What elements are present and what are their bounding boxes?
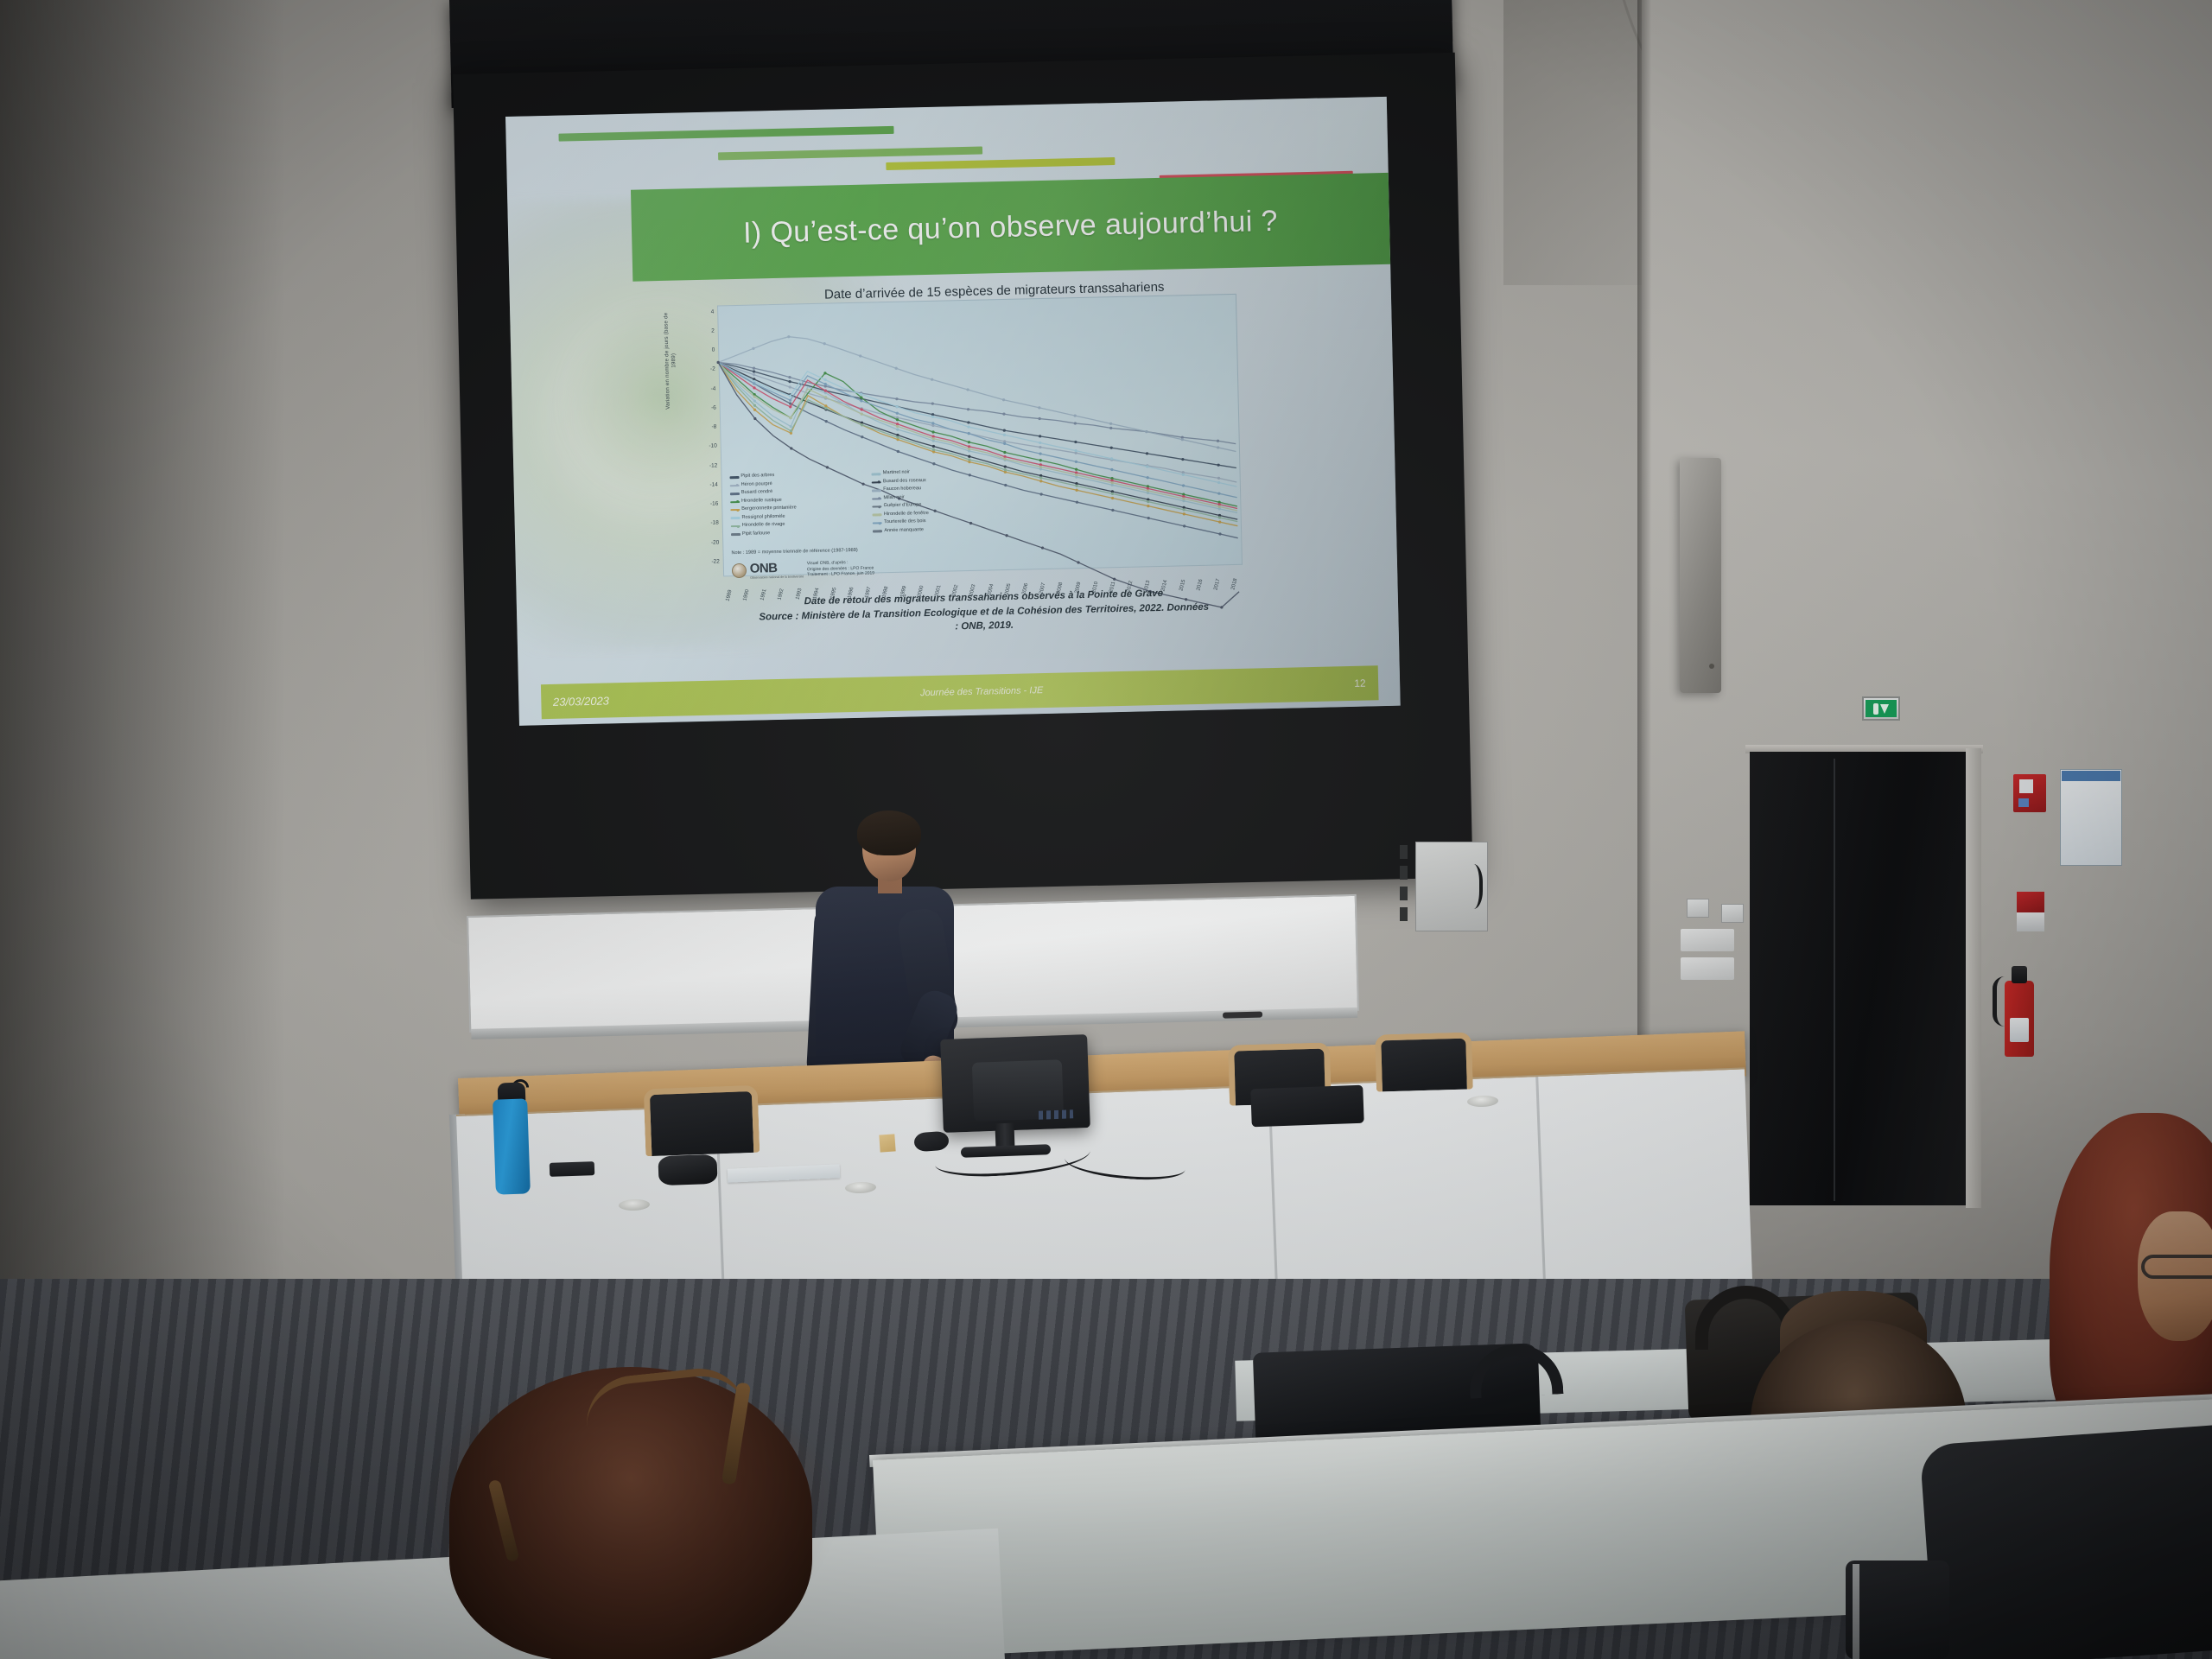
chart-data-point <box>1111 481 1114 484</box>
chart-data-point <box>1004 484 1007 486</box>
smartphone[interactable] <box>550 1161 595 1177</box>
chart-data-point <box>896 435 899 438</box>
wall-outlet[interactable] <box>1721 904 1744 923</box>
chart-data-point <box>1111 509 1114 512</box>
chart-data-point <box>968 455 970 458</box>
legend-marker-icon <box>736 509 739 512</box>
wall-notice-poster <box>2060 769 2122 866</box>
chart-data-point <box>1218 516 1221 518</box>
light-switch-plate[interactable] <box>1681 957 1734 980</box>
legend-marker-icon <box>736 517 739 519</box>
chart-data-point <box>1002 412 1005 415</box>
panel-label-tag <box>1400 907 1408 921</box>
legend-column-left: Pipit des arbresHéron pourpréBusard cend… <box>729 471 862 547</box>
notice-header-band <box>2062 771 2120 781</box>
footer-page-number: 12 <box>1354 677 1366 690</box>
chart-data-point <box>1075 468 1077 471</box>
chart-data-point <box>1074 422 1077 424</box>
chart-data-point <box>1002 398 1005 401</box>
chart-data-point <box>753 373 755 376</box>
extinguisher-label <box>2010 1018 2029 1042</box>
chart-data-point <box>1003 434 1006 436</box>
lecture-hall-door[interactable] <box>1750 752 1970 1205</box>
chart-data-point <box>1039 442 1041 444</box>
extinguisher-handle-icon <box>2012 966 2027 983</box>
wall-outlet[interactable] <box>1687 899 1709 918</box>
light-switch-plate[interactable] <box>1681 929 1734 951</box>
chart-data-point <box>966 388 969 391</box>
exit-sign-pictogram <box>1866 700 1897 717</box>
onb-credit: Visuel ONB, d’après : Origine des donnée… <box>807 560 874 578</box>
chart-data-point <box>1147 500 1149 503</box>
chair-leg <box>1853 1564 1859 1659</box>
projection-screen: I) Qu’est-ce qu’on observe aujourd’hui ?… <box>505 97 1401 726</box>
legend-label: Hirondelle de rivage <box>742 522 785 530</box>
chart-data-point <box>1217 477 1220 480</box>
presenter-hair <box>857 810 921 855</box>
legend-marker-icon <box>737 533 740 536</box>
legend-label: Pipit farlouse <box>742 531 771 538</box>
chart-legend: Pipit des arbresHéron pourpréBusard cend… <box>729 468 1004 548</box>
chart-data-point <box>1074 414 1077 416</box>
chart-data-point <box>1075 461 1077 463</box>
door-seam <box>1834 759 1835 1201</box>
chart-data-point <box>1217 440 1219 442</box>
chart-data-point <box>1147 489 1149 492</box>
fire-alarm-box-secondary[interactable] <box>2017 892 2044 912</box>
chart-data-point <box>1075 474 1077 476</box>
legend-marker-icon <box>737 525 740 528</box>
chart-data-point <box>1145 430 1147 433</box>
chart-data-point <box>1075 485 1077 487</box>
footer-date: 23/03/2023 <box>553 694 609 708</box>
arrow-down-icon <box>1880 704 1889 714</box>
legend-label: Hirondelle de fenêtre <box>884 511 929 518</box>
chart-line-milan-noir <box>718 351 1236 455</box>
chart-data-point <box>1146 476 1148 479</box>
onb-logo-block: ONB Observatoire national de la biodiver… <box>732 559 874 580</box>
chart-data-point <box>1183 524 1185 527</box>
chart-data-point <box>896 425 899 428</box>
chart-data-point <box>931 416 934 418</box>
attendee-right-body <box>1919 1423 2212 1659</box>
water-bottle[interactable] <box>493 1098 531 1194</box>
alarm-glass-icon <box>2019 779 2033 793</box>
chart-data-point <box>788 376 791 378</box>
chart-data-point <box>1146 452 1148 454</box>
chart-data-point <box>1217 481 1220 484</box>
chart-data-point <box>968 441 970 443</box>
emergency-exit-sign <box>1862 696 1900 721</box>
credit-line-3: Traitement : LPO France, juin 2019 <box>807 570 874 577</box>
legend-label: Année manquante <box>884 527 924 535</box>
chart-data-point <box>1147 517 1150 519</box>
legend-label: Héron pourpré <box>741 481 772 489</box>
chart-data-point <box>823 342 826 345</box>
legend-item: Année manquante <box>873 525 1004 535</box>
chart-data-point <box>1109 423 1112 425</box>
legend-label: Guêpier d’Europe <box>884 502 922 510</box>
chart-data-point <box>753 367 755 370</box>
laptop-bag-on-desk[interactable] <box>1250 1085 1363 1128</box>
chart-data-point <box>895 405 898 408</box>
wall-speaker <box>1680 458 1721 693</box>
legend-marker-icon <box>879 505 881 508</box>
chart-data-point <box>1182 474 1185 476</box>
footer-event-name: Journée des Transitions - IJE <box>609 678 1355 706</box>
chart-data-point <box>1004 468 1007 471</box>
chart-data-point <box>1110 468 1113 471</box>
legend-marker-icon <box>735 476 738 479</box>
chart-data-point <box>1039 493 1042 495</box>
monitor-ports <box>1039 1109 1073 1119</box>
onb-wordmark: ONB <box>750 561 804 575</box>
chart-data-point <box>932 448 935 451</box>
chart-data-point <box>1181 438 1184 441</box>
chart-data-point <box>1039 476 1042 479</box>
chart-data-point <box>931 402 934 404</box>
legend-label: Busard des roseaux <box>883 478 926 486</box>
chart-data-point <box>1039 466 1042 468</box>
legend-item: Pipit farlouse <box>731 528 862 537</box>
chart-data-point <box>932 462 935 465</box>
chart-data-point <box>1038 417 1040 420</box>
legend-label: Busard cendré <box>741 489 773 497</box>
chart-data-point <box>895 397 898 400</box>
chart-data-point <box>787 335 790 338</box>
chart-data-point <box>967 425 969 428</box>
chart-data-point <box>789 385 791 388</box>
chart-data-point <box>968 448 970 450</box>
chart-data-point <box>753 370 755 372</box>
chart-data-point <box>1039 446 1041 448</box>
legend-label: Rossignol philomèle <box>741 513 785 521</box>
chart-data-point <box>1074 441 1077 443</box>
chart-data-point <box>1218 520 1221 523</box>
chart-data-point <box>931 422 934 424</box>
chart-data-point <box>1076 501 1078 504</box>
chart-data-point <box>1039 459 1042 461</box>
chart-data-point <box>1182 484 1185 486</box>
chair[interactable] <box>644 1085 760 1157</box>
chart-data-point <box>788 380 791 383</box>
sticky-note[interactable] <box>879 1134 895 1152</box>
legend-label: Pipit des arbres <box>741 474 774 481</box>
chart-data-point <box>1039 435 1041 437</box>
legend-marker-icon <box>879 522 881 524</box>
speaker-led-icon <box>1709 664 1714 669</box>
chart-data-point <box>1182 498 1185 500</box>
panel-label-tag <box>1400 887 1408 900</box>
chart-data-point <box>1217 446 1219 448</box>
presentation-slide: I) Qu’est-ce qu’on observe aujourd’hui ?… <box>505 97 1401 726</box>
chart-data-point <box>1039 480 1042 482</box>
chart-data-point <box>968 458 970 461</box>
chart-data-point <box>1218 505 1221 508</box>
chart-data-point <box>1005 534 1007 537</box>
chart-data-point <box>967 421 969 423</box>
whiteboard-marker <box>1223 1012 1262 1019</box>
chart-data-point <box>1074 449 1077 452</box>
alarm-label-tag <box>2018 798 2029 807</box>
chair[interactable] <box>1375 1032 1473 1091</box>
lecture-hall-photo: I) Qu’est-ce qu’on observe aujourd’hui ?… <box>0 0 2212 1659</box>
legend-label: Faucon hobereau <box>883 486 921 494</box>
chart-data-point <box>931 378 933 381</box>
legend-label: Bergeronnette printanière <box>741 505 797 513</box>
chart-data-point <box>1183 512 1185 515</box>
onb-seal-icon <box>732 563 747 578</box>
legend-label: Martinet noir <box>883 470 910 478</box>
chart-data-point <box>1183 508 1185 511</box>
chart-data-point <box>1218 532 1221 535</box>
chart-data-point <box>1111 497 1114 499</box>
chart-data-point <box>967 408 969 410</box>
audience-chair[interactable] <box>1846 1560 1949 1659</box>
chart-line-faucon-hobereau <box>718 327 1236 463</box>
chart-data-point <box>1003 442 1006 445</box>
legend-marker-icon <box>736 493 739 495</box>
chart-data-point <box>1041 546 1044 549</box>
chart-data-point <box>894 367 897 370</box>
chart-data-point <box>931 430 934 433</box>
running-man-icon <box>1873 703 1878 715</box>
alarm-mount-plate <box>2017 912 2044 931</box>
chart-data-point <box>1075 489 1077 492</box>
chart-data-point <box>968 432 970 435</box>
av-panel-cable <box>1460 864 1483 909</box>
chart-data-point <box>1039 452 1041 454</box>
chart-data-point <box>1147 505 1149 507</box>
legend-label: Hirondelle rustique <box>741 498 782 505</box>
chart-data-point <box>1217 493 1220 495</box>
panel-label-tag <box>1400 845 1408 859</box>
panel-label-tag <box>1400 866 1408 880</box>
chart-data-point <box>932 437 935 440</box>
chart-data-point <box>1109 427 1112 429</box>
legend-label: Milan noir <box>883 494 904 501</box>
chart-data-point <box>1038 406 1040 409</box>
legend-label: Tourterelle des bois <box>884 518 926 526</box>
eyeglass-case[interactable] <box>658 1154 717 1185</box>
chart-data-point <box>1110 447 1113 449</box>
chart-data-point <box>1181 458 1184 461</box>
chart-data-point <box>1003 429 1006 432</box>
chart-data-point <box>896 412 899 415</box>
eyeglasses-icon <box>2141 1255 2212 1279</box>
chart-data-point <box>1111 493 1114 495</box>
left-wall-shadow <box>0 0 285 1348</box>
door-jamb <box>1966 748 1981 1208</box>
chart-data-point <box>1003 451 1006 454</box>
chart-data-point <box>859 354 861 357</box>
legend-column-right: Martinet noirBusard des roseauxFaucon ho… <box>872 468 1005 544</box>
chart-data-point <box>1217 464 1219 467</box>
chart-data-point <box>1004 465 1007 467</box>
chart-data-point <box>932 445 935 448</box>
